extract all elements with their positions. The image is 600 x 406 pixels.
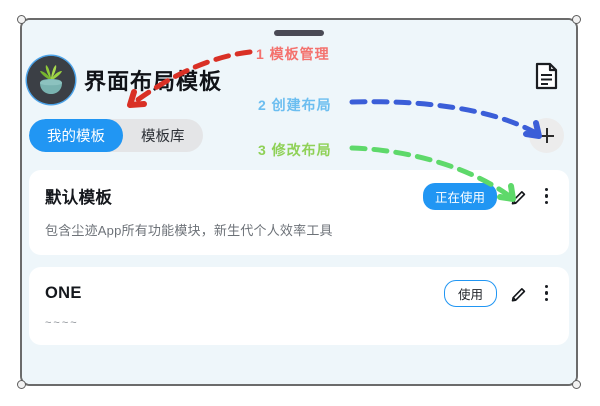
tab-my-templates[interactable]: 我的模板 xyxy=(29,119,123,152)
template-title: ONE xyxy=(45,284,82,303)
use-template-button[interactable]: 使用 xyxy=(444,280,497,307)
resize-handle-bottom-right[interactable] xyxy=(572,380,581,389)
tab-template-library[interactable]: 模板库 xyxy=(123,119,203,152)
card-actions: 使用 xyxy=(444,280,553,307)
plus-icon xyxy=(539,128,554,143)
drag-handle[interactable] xyxy=(274,30,324,36)
screenshot-selection-frame[interactable]: 界面布局模板 我的模板 模板库 默认 xyxy=(20,18,578,386)
succulent-plant-avatar[interactable] xyxy=(27,56,75,104)
resize-handle-top-right[interactable] xyxy=(572,15,581,24)
pencil-icon[interactable] xyxy=(510,187,528,205)
card-header: ONE 使用 xyxy=(45,281,553,305)
template-card-default[interactable]: 默认模板 正在使用 包含尘迹App所有功能模块，新生代个人效率工具 xyxy=(29,170,569,255)
app-screen: 界面布局模板 我的模板 模板库 默认 xyxy=(22,20,576,384)
template-card-one[interactable]: ONE 使用 ~~~~ xyxy=(29,267,569,345)
resize-handle-top-left[interactable] xyxy=(17,15,26,24)
card-actions: 正在使用 xyxy=(423,183,553,210)
tab-bar: 我的模板 模板库 xyxy=(29,119,203,152)
document-glyph xyxy=(534,62,560,90)
more-vertical-icon[interactable] xyxy=(541,186,553,206)
header: 界面布局模板 xyxy=(22,54,576,108)
succulent-plant-icon xyxy=(27,56,75,104)
card-header: 默认模板 正在使用 xyxy=(45,184,553,208)
document-icon[interactable] xyxy=(534,62,560,90)
template-list: 默认模板 正在使用 包含尘迹App所有功能模块，新生代个人效率工具 ONE xyxy=(29,170,569,357)
pencil-icon[interactable] xyxy=(510,284,528,302)
resize-handle-bottom-left[interactable] xyxy=(17,380,26,389)
template-title: 默认模板 xyxy=(45,184,112,208)
page-title: 界面布局模板 xyxy=(84,64,222,96)
status-badge-in-use[interactable]: 正在使用 xyxy=(423,183,497,210)
template-description: 包含尘迹App所有功能模块，新生代个人效率工具 xyxy=(45,220,553,239)
more-vertical-icon[interactable] xyxy=(541,283,553,303)
add-template-button[interactable] xyxy=(529,118,564,153)
template-description: ~~~~ xyxy=(45,317,553,329)
